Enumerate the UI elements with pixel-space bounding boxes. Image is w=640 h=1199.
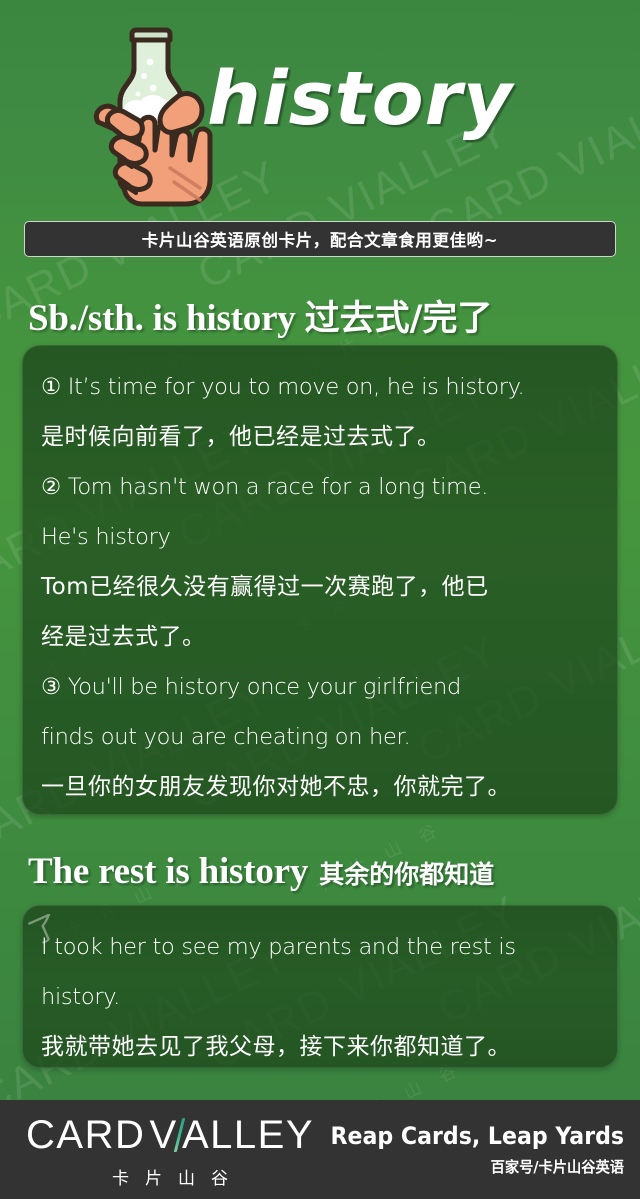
english-learning-card: CARD VIALLEY CARD VIALLEY CARD VIALLEY C… [0,0,640,1199]
page-title: history [207,62,513,136]
examples-box-1: ① It’s time for you to move on, he is hi… [22,345,618,815]
brand-logo-card: CARD [26,1115,145,1155]
promo-banner: 卡片山谷英语原创卡片，配合文章食用更佳哟~ [24,221,616,257]
section-heading-1-en: Sb./sth. is history [28,297,296,340]
card-footer: CARD V ALLEY 卡片山谷 Reap Cards, Leap Yards… [0,1100,640,1199]
example-line: 是时候向前看了，他已经是过去式了。 [41,412,599,462]
section-heading-1: Sb./sth. is history 过去式/完了 [28,290,492,341]
section-heading-1-cn: 过去式/完了 [305,290,493,341]
promo-banner-text: 卡片山谷英语原创卡片，配合文章食用更佳哟~ [142,227,498,251]
brand-logo-alley: ALLEY [182,1115,314,1155]
example-line: ② Tom hasn't won a race for a long time. [41,462,599,512]
example-line: 一旦你的女朋友发现你对她不忠，你就完了。 [41,762,599,812]
brand-logo-wordmark: CARD V ALLEY [26,1114,314,1156]
examples-box-2: I took her to see my parents and the res… [22,905,618,1068]
example-line: 我就带她去见了我父母，接下来你都知道了。 [41,1022,599,1072]
example-line: finds out you are cheating on her. [41,712,599,762]
example-line: ① It’s time for you to move on, he is hi… [41,362,599,412]
example-line: I took her to see my parents and the res… [41,922,599,972]
card-header: history [0,0,640,212]
example-line: history. [41,972,599,1022]
brand-tagline: Reap Cards, Leap Yards 百家号/卡片山谷英语 [305,1122,624,1177]
section-heading-2: The rest is history 其余的你都知道 [28,850,494,893]
example-line: 经是过去式了。 [41,612,599,662]
example-line: He's history [41,512,599,562]
brand-tagline-en: Reap Cards, Leap Yards [330,1122,624,1150]
brand-logo: CARD V ALLEY 卡片山谷 [26,1114,314,1189]
section-heading-2-en: The rest is history [28,850,308,893]
brand-tagline-cn: 百家号/卡片山谷英语 [321,1156,624,1177]
brand-logo-cn: 卡片山谷 [26,1164,314,1189]
example-line: ③ You'll be history once your girlfriend [41,662,599,712]
section-heading-2-cn: 其余的你都知道 [319,855,494,891]
example-line: Tom已经很久没有赢得过一次赛跑了，他已 [41,562,599,612]
